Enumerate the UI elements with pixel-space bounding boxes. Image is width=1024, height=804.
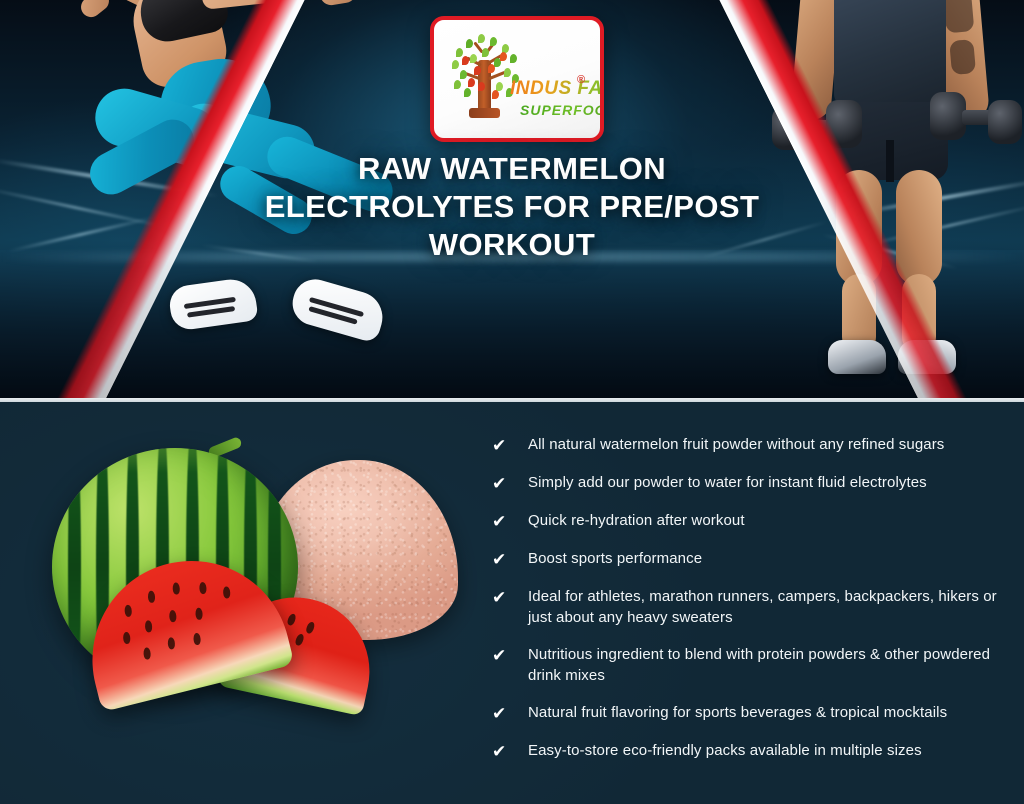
headline-line-2: ELECTROLYTES FOR PRE/POST [0, 188, 1024, 226]
benefit-item: ✔ Easy-to-store eco-friendly packs avail… [492, 740, 1012, 762]
benefit-item: ✔ Boost sports performance [492, 548, 1012, 570]
check-icon: ✔ [492, 702, 528, 724]
benefit-text: Ideal for athletes, marathon runners, ca… [528, 586, 1012, 628]
check-icon: ✔ [492, 434, 528, 456]
check-icon: ✔ [492, 586, 528, 608]
benefit-item: ✔ Nutritious ingredient to blend with pr… [492, 644, 1012, 686]
benefit-text: Natural fruit flavoring for sports bever… [528, 702, 947, 723]
benefit-text: Quick re-hydration after workout [528, 510, 745, 531]
brand-logo-card[interactable]: INDUS FARMS ® SUPERFOODS [430, 16, 604, 142]
benefits-panel: ✔ All natural watermelon fruit powder wi… [0, 402, 1024, 804]
benefit-text: All natural watermelon fruit powder with… [528, 434, 944, 455]
benefit-item: ✔ Natural fruit flavoring for sports bev… [492, 702, 1012, 724]
headline-line-1: RAW WATERMELON [0, 150, 1024, 188]
registered-mark: ® [577, 74, 585, 86]
hero-banner: INDUS FARMS ® SUPERFOODS RAW WATERMELON … [0, 0, 1024, 400]
check-icon: ✔ [492, 510, 528, 532]
tree-icon [448, 30, 522, 118]
headline-line-3: WORKOUT [0, 226, 1024, 264]
benefit-item: ✔ Quick re-hydration after workout [492, 510, 1012, 532]
benefit-text: Nutritious ingredient to blend with prot… [528, 644, 1012, 686]
hero-headline: RAW WATERMELON ELECTROLYTES FOR PRE/POST… [0, 150, 1024, 264]
check-icon: ✔ [492, 472, 528, 494]
check-icon: ✔ [492, 740, 528, 762]
benefit-item: ✔ All natural watermelon fruit powder wi… [492, 434, 1012, 456]
check-icon: ✔ [492, 644, 528, 666]
check-icon: ✔ [492, 548, 528, 570]
brand-name: INDUS FARMS [510, 78, 604, 100]
benefit-text: Boost sports performance [528, 548, 702, 569]
brand-tagline: SUPERFOODS [520, 102, 604, 118]
benefit-item: ✔ Ideal for athletes, marathon runners, … [492, 586, 1012, 628]
benefit-text: Simply add our powder to water for insta… [528, 472, 927, 493]
benefits-list: ✔ All natural watermelon fruit powder wi… [492, 434, 1012, 778]
benefit-item: ✔ Simply add our powder to water for ins… [492, 472, 1012, 494]
product-marketing-poster: INDUS FARMS ® SUPERFOODS RAW WATERMELON … [0, 0, 1024, 804]
product-image [18, 430, 458, 775]
benefit-text: Easy-to-store eco-friendly packs availab… [528, 740, 922, 761]
